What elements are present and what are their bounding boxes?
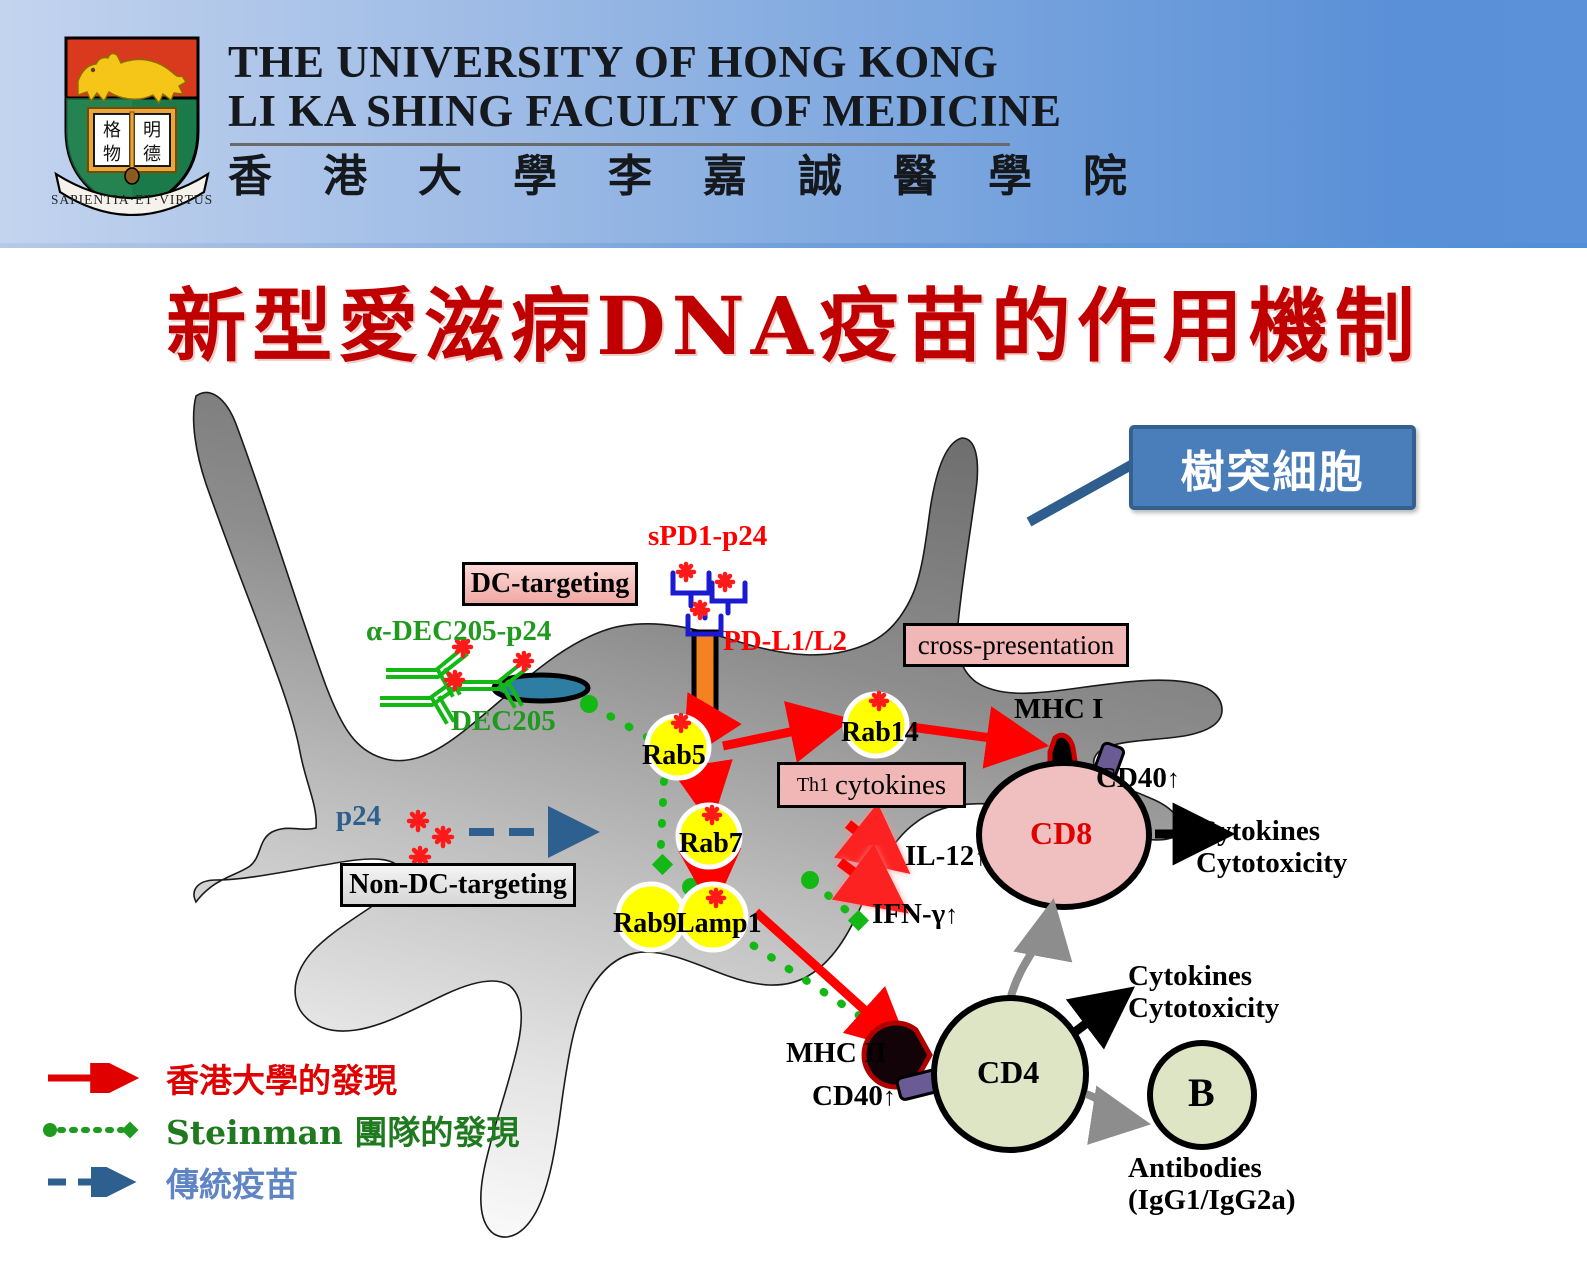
- callout-leader-line: [1029, 464, 1133, 522]
- legend-label-traditional-vaccine: 傳統疫苗: [166, 1158, 298, 1206]
- label-mhc-ii: MHC II: [786, 1037, 887, 1070]
- label-lamp1: Lamp1: [676, 908, 762, 940]
- label-spd1-p24: sPD1-p24: [648, 520, 767, 553]
- legend-key-dashed-arrow-blue: [42, 1167, 152, 1197]
- header-text-block: THE UNIVERSITY OF HONG KONG LI KA SHING …: [228, 38, 1378, 204]
- label-cd4: CD4: [977, 1054, 1039, 1091]
- label-il12: IL-12↑: [905, 840, 987, 873]
- label-cd8-output-cytokines: Cytokines: [1196, 815, 1320, 848]
- label-rab14: Rab14: [841, 717, 919, 749]
- label-p24: p24: [336, 800, 381, 833]
- legend-item-traditional-vaccine: 傳統疫苗: [42, 1156, 602, 1208]
- label-cd4-output-cytotoxicity: Cytotoxicity: [1128, 992, 1279, 1025]
- callout-dendritic-cell: 樹突細胞: [1129, 425, 1416, 510]
- header-line-2: LI KA SHING FACULTY OF MEDICINE: [228, 87, 1378, 136]
- svg-text:SAPIENTIA·ET·VIRTUS: SAPIENTIA·ET·VIRTUS: [52, 192, 212, 207]
- label-cd40-bottom: CD40↑: [812, 1080, 896, 1113]
- header-underline: [0, 243, 1587, 248]
- label-alpha-dec205-p24: α-DEC205-p24: [366, 615, 551, 648]
- label-rab9: Rab9: [613, 908, 677, 940]
- svg-text:物: 物: [103, 144, 121, 165]
- legend-item-steinman-finding: Steinman 團隊的發現: [42, 1104, 602, 1156]
- label-cd8: CD8: [1030, 815, 1092, 852]
- box-th1-cytokines: Th1 cytokines: [777, 762, 966, 808]
- legend: 香港大學的發現 Steinman 團隊的發現 傳統疫苗: [42, 1052, 602, 1208]
- svg-text:格: 格: [103, 120, 121, 141]
- box-dc-targeting: DC-targeting: [462, 562, 638, 606]
- label-dec205: DEC205: [451, 705, 556, 738]
- svg-text:明: 明: [143, 120, 161, 141]
- svg-text:德: 德: [143, 144, 161, 165]
- label-cd8-output-cytotoxicity: Cytotoxicity: [1196, 847, 1347, 880]
- label-cd4-output-cytokines: Cytokines: [1128, 960, 1252, 993]
- box-non-dc-targeting: Non-DC-targeting: [340, 863, 576, 907]
- callout-label: 樹突細胞: [1181, 436, 1365, 500]
- label-antibodies-subtypes: (IgG1/IgG2a): [1128, 1184, 1296, 1217]
- cd4-to-cd8-arrow: [1010, 913, 1051, 1000]
- legend-key-dotted-arrow-green: [42, 1115, 152, 1145]
- box-cross-presentation: cross-presentation: [903, 623, 1129, 667]
- header-line-3-chinese: 香 港 大 學 李 嘉 誠 醫 學 院: [228, 150, 1378, 204]
- label-ifn-gamma: IFN-γ↑: [872, 898, 958, 931]
- hku-shield-logo: 格 明 物 德 SAPIENTIA·ET·VIRTUS: [52, 26, 212, 216]
- page-title: 新型愛滋病DNA疫苗的作用機制: [0, 262, 1587, 378]
- label-mhc-i: MHC I: [1014, 693, 1103, 726]
- label-rab7: Rab7: [679, 828, 743, 860]
- label-bcell: B: [1188, 1069, 1215, 1116]
- header-divider: [230, 143, 1010, 146]
- legend-key-solid-arrow-red: [42, 1063, 152, 1093]
- label-pd-l1-l2: PD-L1/L2: [723, 625, 847, 658]
- legend-label-steinman-finding: Steinman 團隊的發現: [166, 1106, 519, 1154]
- label-cd40-top: CD40↑: [1096, 762, 1180, 795]
- cd4-output-arrow: [1075, 994, 1125, 1032]
- legend-label-hku-finding: 香港大學的發現: [166, 1054, 397, 1102]
- pd-l1-l2-receptor-icon: [694, 632, 716, 710]
- header-line-1: THE UNIVERSITY OF HONG KONG: [228, 38, 1378, 87]
- cd4-to-bcell-arrow: [1086, 1094, 1136, 1122]
- legend-item-hku-finding: 香港大學的發現: [42, 1052, 602, 1104]
- label-rab5: Rab5: [642, 740, 706, 772]
- label-antibodies: Antibodies: [1128, 1152, 1262, 1185]
